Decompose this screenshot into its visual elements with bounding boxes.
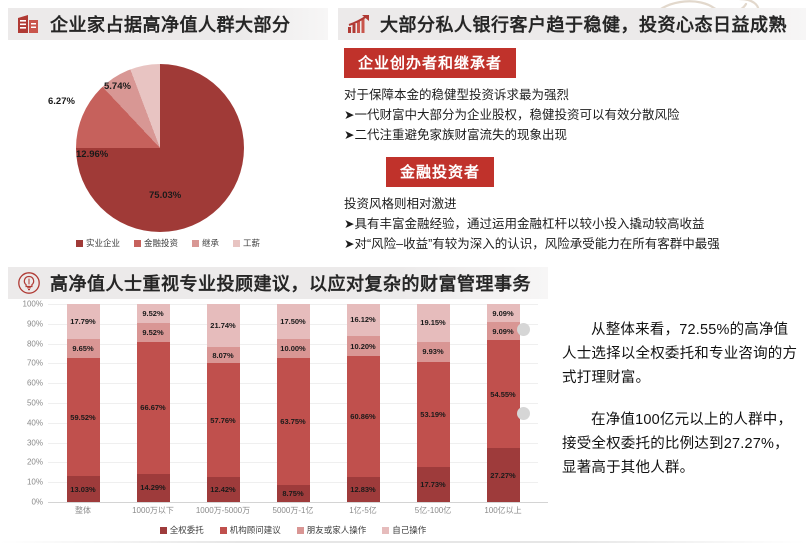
legend-label: 全权委托 [170,524,204,536]
pie-slices [76,64,244,232]
legend-swatch [382,527,389,534]
narrative-paragraph-2: 在净值100亿元以上的人群中，接受全权委托的比例达到27.27%，显著高于其他人… [562,408,798,480]
legend-swatch [297,527,304,534]
bar-segment[interactable]: 9.93% [417,342,450,362]
bar-segment[interactable]: 66.67% [137,342,170,474]
block2-line-2: ➤对“风险–收益”有较为深入的认识，风险承受能力在所有客群中最强 [344,234,806,254]
bar-value-label: 57.76% [210,416,235,425]
bar-value-label: 14.29% [140,483,165,492]
bar-value-label: 9.09% [492,327,513,336]
stacked-bar-chart: 0% 10% 20% 30% 40% 50% 60% 70% 80% 90% 1… [8,300,548,543]
legend-swatch [134,240,141,247]
bar-value-label: 9.52% [142,328,163,337]
pie-label-3: 5.74% [104,81,131,92]
bar-legend: 全权委托 机构顾问建议 朋友或家人操作 自己操作 [48,524,538,536]
section-header-1-title: 企业家占据高净值人群大部分 [50,11,291,37]
pie-label-0: 75.03% [149,190,181,201]
bar-segment[interactable]: 9.65% [67,339,100,358]
legend-label: 金融投资 [144,237,178,249]
y-tick-3: 30% [27,438,43,447]
bar-column: 13.03%59.52%9.65%17.79% [48,304,118,502]
bar-stack[interactable]: 27.27%54.55%9.09%9.09% [487,304,520,502]
section-header-1: 企业家占据高净值人群大部分 [8,8,328,40]
bar-column: 14.29%66.67%9.52%9.52% [118,304,188,502]
x-axis-label: 5亿-100亿 [398,505,468,516]
bar-segment[interactable]: 21.74% [207,304,240,347]
building-icon [14,11,44,37]
bar-segment[interactable]: 8.75% [277,485,310,502]
section-header-3-title: 高净值人士重视专业投顾建议，以应对复杂的财富管理事务 [50,270,531,296]
bullet-dot-1 [517,323,530,336]
bar-segment[interactable]: 60.86% [347,356,380,477]
bar-legend-item-0[interactable]: 全权委托 [160,524,204,536]
bar-column: 8.75%63.75%10.00%17.50% [258,304,328,502]
bar-segment[interactable]: 17.73% [417,467,450,502]
section-header-3: 高净值人士重视专业投顾建议，以应对复杂的财富管理事务 [8,267,548,299]
legend-swatch [192,240,199,247]
block1-body: 对于保障本金的稳健型投资诉求最为强烈 ➤一代财富中大部分为企业股权，稳健投资可以… [344,85,806,145]
y-tick-5: 50% [27,399,43,408]
bar-column: 12.83%60.86%10.20%16.12% [328,304,398,502]
bar-stack[interactable]: 12.83%60.86%10.20%16.12% [347,304,380,502]
legend-label: 朋友或家人操作 [307,524,367,536]
bar-value-label: 27.27% [490,471,515,480]
section-header-2-title: 大部分私人银行客户趋于稳健，投资心态日益成熟 [380,11,787,37]
bar-value-label: 66.67% [140,403,165,412]
y-tick-9: 90% [27,319,43,328]
legend-swatch [76,240,83,247]
tag-founder-heir: 企业创办者和继承者 [344,48,516,78]
bar-value-label: 17.50% [280,317,305,326]
tag-block-2: 金融投资者 [344,157,806,187]
bar-value-label: 17.73% [420,480,445,489]
slide-page: 企业家占据高净值人群大部分 75.03% 12.96% 6.27% 5.74% … [0,0,806,543]
y-tick-4: 40% [27,418,43,427]
pie-legend: 实业企业 金融投资 继承 工薪 [8,237,328,249]
lightbulb-icon [14,270,44,296]
bar-value-label: 9.93% [422,347,443,356]
bar-value-label: 59.52% [70,413,95,422]
bar-column: 12.42%57.76%8.07%21.74% [188,304,258,502]
x-axis-baseline [48,502,548,503]
bar-value-label: 9.52% [142,309,163,318]
bar-segment[interactable]: 17.79% [67,304,100,339]
bar-segment[interactable]: 59.52% [67,358,100,476]
bar-stack[interactable]: 8.75%63.75%10.00%17.50% [277,304,310,502]
narrative-paragraph-1: 从整体来看，72.55%的高净值人士选择以全权委托和专业咨询的方式打理财富。 [562,318,798,390]
bullet-dot-2 [517,407,530,420]
right-text-panel: 企业创办者和继承者 对于保障本金的稳健型投资诉求最为强烈 ➤一代财富中大部分为企… [344,48,806,266]
x-axis-label: 1000万-5000万 [188,505,258,516]
bar-value-label: 54.55% [490,390,515,399]
pie-legend-item-1[interactable]: 金融投资 [134,237,178,249]
block1-line-1: ➤一代财富中大部分为企业股权，稳健投资可以有效分散风险 [344,105,806,125]
bar-segment[interactable]: 9.09% [487,304,520,322]
narrative-panel: 从整体来看，72.55%的高净值人士选择以全权委托和专业咨询的方式打理财富。 在… [562,318,798,480]
pie-legend-item-3[interactable]: 工薪 [233,237,260,249]
bar-segment[interactable]: 63.75% [277,358,310,484]
y-axis: 0% 10% 20% 30% 40% 50% 60% 70% 80% 90% 1… [8,304,46,502]
block1-line-0: 对于保障本金的稳健型投资诉求最为强烈 [344,85,806,105]
bar-column: 17.73%53.19%9.93%19.15% [398,304,468,502]
block2-line-1: ➤具有丰富金融经验，通过运用金融杠杆以较小投入撬动较高收益 [344,214,806,234]
bar-columns: 13.03%59.52%9.65%17.79%14.29%66.67%9.52%… [48,304,538,502]
bar-segment[interactable]: 9.52% [137,304,170,323]
tag-financial-investor: 金融投资者 [386,157,494,187]
x-axis-label: 整体 [48,505,118,516]
legend-label: 机构顾问建议 [230,524,281,536]
pie-chart [76,64,244,232]
y-tick-8: 80% [27,339,43,348]
bar-value-label: 13.03% [70,485,95,494]
bar-value-label: 60.86% [350,412,375,421]
bar-segment[interactable]: 19.15% [417,304,450,342]
bar-segment[interactable]: 10.20% [347,336,380,356]
bar-value-label: 8.07% [212,351,233,360]
legend-swatch [233,240,240,247]
growth-chart-icon [344,11,374,37]
pie-label-2: 6.27% [48,96,75,107]
bar-segment[interactable]: 8.07% [207,347,240,363]
bar-segment[interactable]: 9.09% [487,322,520,340]
y-tick-1: 10% [27,478,43,487]
legend-label: 继承 [202,237,219,249]
bar-stack[interactable]: 17.73%53.19%9.93%19.15% [417,304,450,502]
bar-segment[interactable]: 12.42% [207,477,240,502]
bar-segment[interactable]: 12.83% [347,477,380,502]
bar-segment[interactable]: 14.29% [137,474,170,502]
bar-legend-item-2[interactable]: 朋友或家人操作 [297,524,367,536]
bar-stack[interactable]: 13.03%59.52%9.65%17.79% [67,304,100,502]
y-tick-6: 60% [27,379,43,388]
legend-label: 工薪 [243,237,260,249]
block2-line-0: 投资风格则相对激进 [344,194,806,214]
bar-value-label: 53.19% [420,410,445,419]
bar-value-label: 8.75% [282,489,303,498]
bar-segment[interactable]: 17.50% [277,304,310,339]
bar-value-label: 19.15% [420,318,445,327]
block2-body: 投资风格则相对激进 ➤具有丰富金融经验，通过运用金融杠杆以较小投入撬动较高收益 … [344,194,806,254]
bar-value-label: 10.20% [350,342,375,351]
x-axis-label: 1000万以下 [118,505,188,516]
bar-value-label: 12.42% [210,485,235,494]
y-tick-0: 0% [31,498,43,507]
pie-legend-item-2[interactable]: 继承 [192,237,219,249]
pie-label-1: 12.96% [76,149,108,160]
y-tick-7: 70% [27,359,43,368]
bar-value-label: 9.09% [492,309,513,318]
bar-segment[interactable]: 16.12% [347,304,380,336]
y-tick-10: 100% [23,300,43,309]
bar-legend-item-3[interactable]: 自己操作 [382,524,426,536]
bar-segment[interactable]: 13.03% [67,476,100,502]
bar-value-label: 17.79% [70,317,95,326]
x-axis-labels: 整体1000万以下1000万-5000万5000万-1亿1亿-5亿5亿-100亿… [48,505,538,516]
bar-legend-item-1[interactable]: 机构顾问建议 [220,524,281,536]
x-axis-label: 100亿以上 [468,505,538,516]
legend-swatch [160,527,167,534]
block1-line-2: ➤二代注重避免家族财富流失的现象出现 [344,125,806,145]
bar-stack[interactable]: 12.42%57.76%8.07%21.74% [207,304,240,502]
pie-legend-item-0[interactable]: 实业企业 [76,237,120,249]
x-axis-label: 1亿-5亿 [328,505,398,516]
legend-swatch [220,527,227,534]
bar-segment[interactable]: 10.00% [277,339,310,359]
legend-label: 自己操作 [392,524,426,536]
bar-segment[interactable]: 9.52% [137,323,170,342]
bar-value-label: 12.83% [350,485,375,494]
bar-segment[interactable]: 53.19% [417,362,450,467]
bar-value-label: 21.74% [210,321,235,330]
bar-value-label: 9.65% [72,344,93,353]
legend-label: 实业企业 [86,237,120,249]
bar-value-label: 16.12% [350,315,375,324]
bar-segment[interactable]: 57.76% [207,363,240,477]
x-axis-label: 5000万-1亿 [258,505,328,516]
bar-segment[interactable]: 27.27% [487,448,520,502]
y-tick-2: 20% [27,458,43,467]
bar-stack[interactable]: 14.29%66.67%9.52%9.52% [137,304,170,502]
section-header-2: 大部分私人银行客户趋于稳健，投资心态日益成熟 [338,8,806,40]
pie-chart-block: 75.03% 12.96% 6.27% 5.74% 实业企业 金融投资 继承 工… [8,44,328,254]
bar-value-label: 10.00% [280,344,305,353]
tag-block-1: 企业创办者和继承者 [344,48,806,78]
bar-segment[interactable]: 54.55% [487,340,520,448]
bar-value-label: 63.75% [280,417,305,426]
